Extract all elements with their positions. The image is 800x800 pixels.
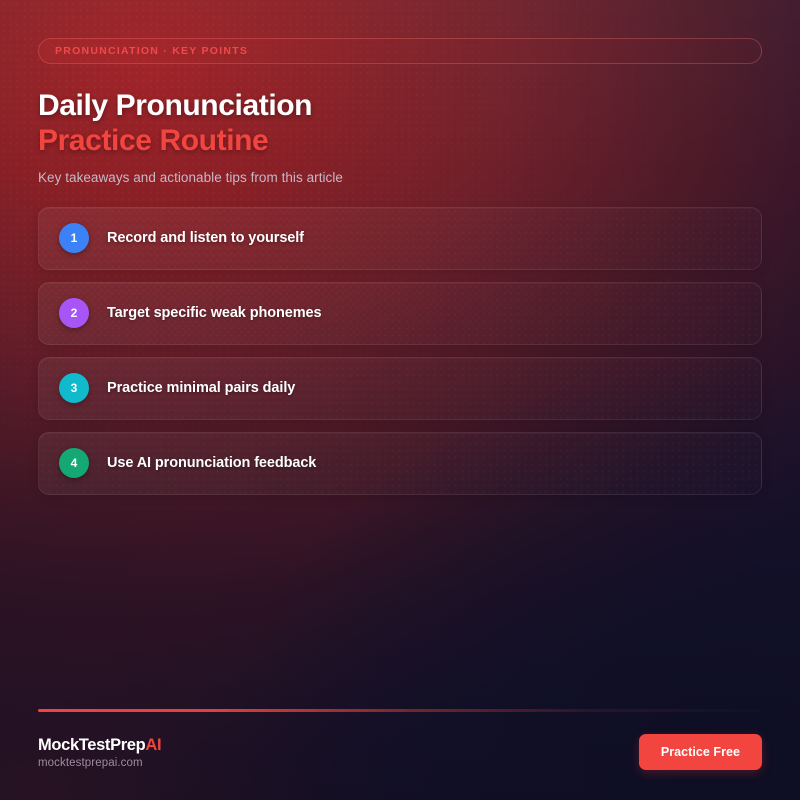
slide-root: PRONUNCIATION · KEY POINTS Daily Pronunc… (0, 0, 800, 800)
brand-name-main: MockTestPrep (38, 736, 145, 754)
footer: MockTestPrepAI mocktestprepai.com Practi… (38, 709, 762, 770)
page-title-line1: Daily Pronunciation (38, 88, 762, 123)
list-item-label: Use AI pronunciation feedback (107, 455, 316, 471)
eyebrow-pill: PRONUNCIATION · KEY POINTS (38, 38, 762, 64)
step-number-badge: 2 (59, 298, 89, 328)
brand-name-accent: AI (145, 736, 161, 754)
list-item[interactable]: 4 Use AI pronunciation feedback (38, 432, 762, 495)
list-item[interactable]: 1 Record and listen to yourself (38, 207, 762, 270)
page-title-line2: Practice Routine (38, 123, 762, 158)
footer-row: MockTestPrepAI mocktestprepai.com Practi… (38, 734, 762, 770)
list-item-label: Record and listen to yourself (107, 230, 304, 246)
list-item[interactable]: 2 Target specific weak phonemes (38, 282, 762, 345)
key-points-list: 1 Record and listen to yourself 2 Target… (38, 207, 762, 495)
list-item-label: Target specific weak phonemes (107, 305, 321, 321)
brand-name: MockTestPrepAI (38, 735, 161, 756)
eyebrow-label: PRONUNCIATION · KEY POINTS (55, 45, 248, 57)
footer-divider (38, 709, 762, 712)
page-subtitle: Key takeaways and actionable tips from t… (38, 170, 762, 185)
brand-url: mocktestprepai.com (38, 757, 161, 769)
list-item[interactable]: 3 Practice minimal pairs daily (38, 357, 762, 420)
brand-block: MockTestPrepAI mocktestprepai.com (38, 735, 161, 770)
practice-free-button[interactable]: Practice Free (639, 734, 762, 770)
step-number-badge: 3 (59, 373, 89, 403)
list-item-label: Practice minimal pairs daily (107, 380, 295, 396)
step-number-badge: 1 (59, 223, 89, 253)
step-number-badge: 4 (59, 448, 89, 478)
